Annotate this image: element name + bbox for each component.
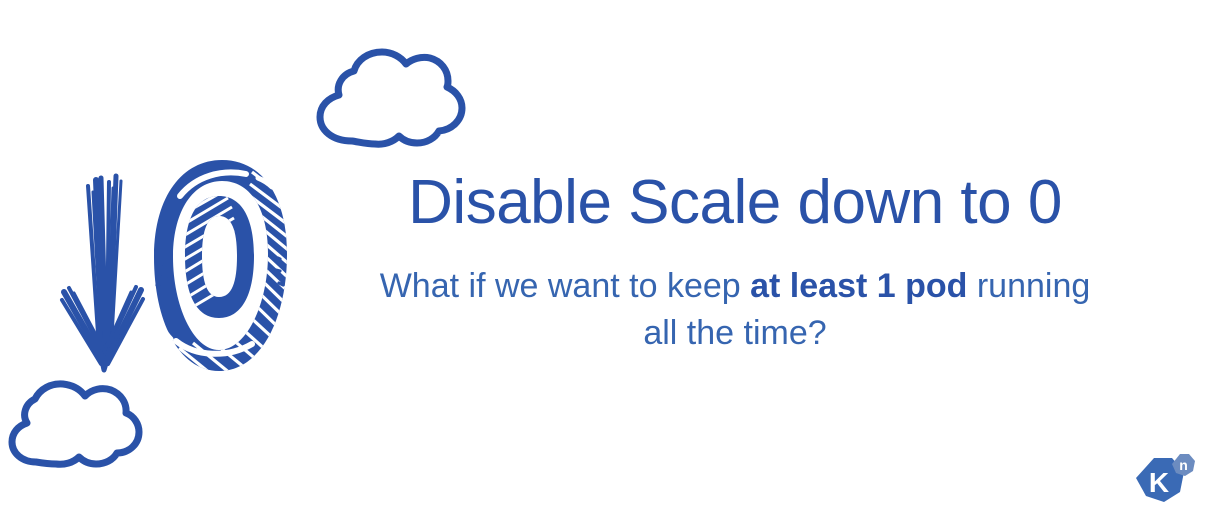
page-title: Disable Scale down to 0 (340, 170, 1130, 237)
cloud-outline-bottom-icon (12, 384, 139, 464)
subtitle-emphasis: at least 1 pod (750, 267, 967, 305)
logo-mark-letter: K (1149, 467, 1169, 498)
page-subtitle: What if we want to keep at least 1 pod r… (365, 263, 1105, 357)
subtitle-lead: What if we want to keep (380, 267, 750, 305)
down-arrow-sketch-icon (62, 176, 143, 370)
slide-root: Disable Scale down to 0 What if we want … (0, 0, 1212, 525)
cloud-outline-top-icon (320, 52, 462, 144)
knative-logo: K n (1128, 450, 1200, 516)
zero-sparkle-marks (157, 258, 283, 286)
hand-drawn-zero-icon (154, 160, 299, 380)
text-block: Disable Scale down to 0 What if we want … (340, 170, 1130, 357)
logo-badge-letter: n (1179, 457, 1188, 473)
